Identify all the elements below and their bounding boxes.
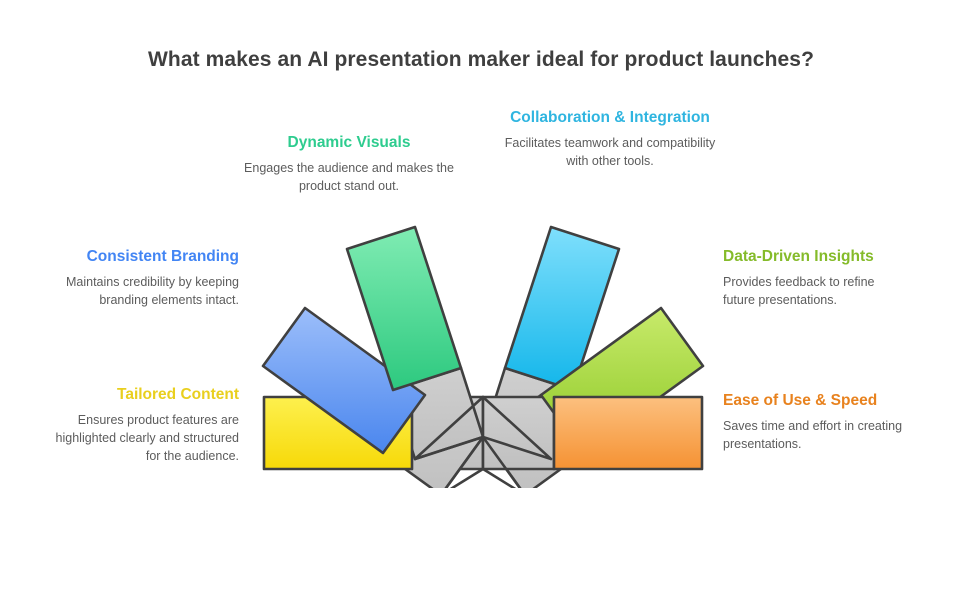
radial-fan-diagram <box>248 208 718 488</box>
callout-title-ease-of-use-speed: Ease of Use & Speed <box>723 391 909 411</box>
callout-title-collaboration-integration: Collaboration & Integration <box>497 108 723 128</box>
callout-description-collaboration-integration: Facilitates teamwork and compatibility w… <box>497 135 723 171</box>
page-title: What makes an AI presentation maker idea… <box>0 48 962 72</box>
callout-description-data-driven-insights: Provides feedback to refine future prese… <box>723 274 909 310</box>
callout-title-tailored-content: Tailored Content <box>50 385 239 405</box>
callout-description-consistent-branding: Maintains credibility by keeping brandin… <box>62 274 239 310</box>
fan-svg <box>248 208 718 488</box>
callout-data-driven-insights: Data-Driven Insights Provides feedback t… <box>723 247 909 310</box>
callout-title-consistent-branding: Consistent Branding <box>62 247 239 267</box>
callout-description-tailored-content: Ensures product features are highlighted… <box>50 412 239 465</box>
callout-description-dynamic-visuals: Engages the audience and makes the produ… <box>228 160 470 196</box>
callout-dynamic-visuals: Dynamic Visuals Engages the audience and… <box>228 133 470 196</box>
callout-ease-of-use-speed: Ease of Use & Speed Saves time and effor… <box>723 391 909 454</box>
infographic-canvas: What makes an AI presentation maker idea… <box>0 0 962 599</box>
callout-tailored-content: Tailored Content Ensures product feature… <box>50 385 239 466</box>
callout-description-ease-of-use-speed: Saves time and effort in creating presen… <box>723 418 909 454</box>
callout-title-dynamic-visuals: Dynamic Visuals <box>228 133 470 153</box>
callout-consistent-branding: Consistent Branding Maintains credibilit… <box>62 247 239 310</box>
blade-ease-of-use-speed <box>554 397 702 469</box>
callout-collaboration-integration: Collaboration & Integration Facilitates … <box>497 108 723 171</box>
callout-title-data-driven-insights: Data-Driven Insights <box>723 247 909 267</box>
